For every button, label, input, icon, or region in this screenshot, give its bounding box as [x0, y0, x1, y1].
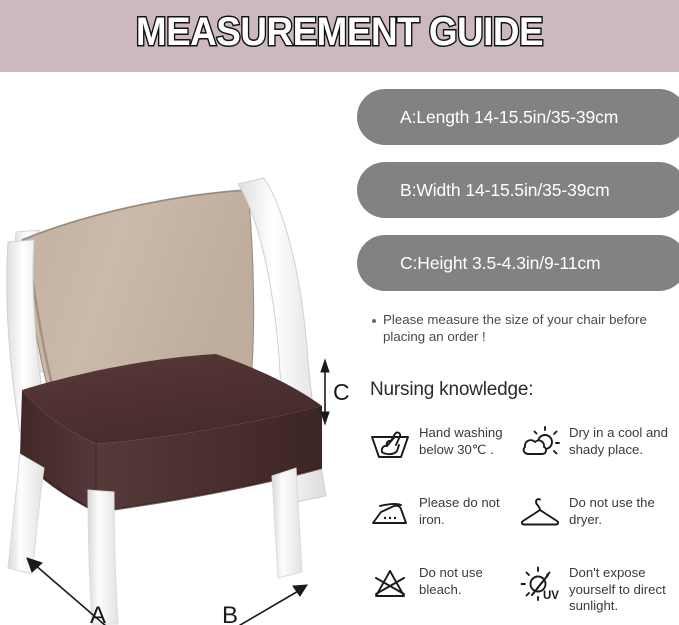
hand-washing-icon [368, 424, 412, 464]
spec-badge-length: A:Length 14-15.5in/35-39cm [357, 89, 679, 145]
spec-badge-width-label: B:Width 14-15.5in/35-39cm [357, 180, 610, 201]
care-instructions-grid: Hand washing below 30℃ . Dry in a cool [368, 422, 679, 625]
dimension-label-a: A [90, 602, 106, 625]
do-not-bleach-icon [368, 564, 412, 604]
page-title: MEASUREMENT GUIDE [27, 10, 652, 55]
care-item-dry-shady: Dry in a cool and shady place. [518, 422, 679, 492]
care-item-no-dryer: Do not use the dryer. [518, 492, 679, 562]
clothes-hanger-icon [518, 494, 562, 534]
care-item-hand-washing: Hand washing below 30℃ . [368, 422, 518, 492]
spec-badge-height-label: C:Height 3.5-4.3in/9-11cm [357, 253, 600, 274]
bullet-icon [372, 319, 376, 323]
care-item-do-not-bleach: Do not use bleach. [368, 562, 518, 625]
spec-badge-height: C:Height 3.5-4.3in/9-11cm [357, 235, 679, 291]
chair-left-leg [8, 454, 44, 574]
care-label-dry-shady: Dry in a cool and shady place. [569, 422, 679, 458]
care-label-no-sunlight: Don't expose yourself to direct sunlight… [569, 562, 679, 615]
dimension-arrow-c [321, 360, 329, 424]
do-not-iron-icon [368, 494, 412, 534]
measurement-guide-page: MEASUREMENT GUIDE [0, 0, 679, 625]
dimension-label-c: C [333, 379, 350, 405]
chair-illustration-panel: C A B [0, 72, 350, 625]
measure-note: Please measure the size of your chair be… [372, 311, 672, 345]
header-band: MEASUREMENT GUIDE [0, 0, 679, 72]
no-uv-sunlight-icon: UV [518, 564, 562, 604]
care-label-hand-washing: Hand washing below 30℃ . [419, 422, 518, 458]
nursing-knowledge-heading: Nursing knowledge: [370, 379, 533, 401]
care-label-do-not-bleach: Do not use bleach. [419, 562, 518, 598]
care-item-no-sunlight: UV Don't expose yourself to direct sunli… [518, 562, 679, 625]
dimension-label-b: B [222, 602, 238, 625]
sun-behind-cloud-icon [518, 424, 562, 464]
spec-badge-width: B:Width 14-15.5in/35-39cm [357, 162, 679, 218]
care-item-do-not-iron: Please do not iron. [368, 492, 518, 562]
dining-chair-illustration: C A B [0, 72, 350, 625]
svg-text:UV: UV [543, 590, 559, 602]
measure-note-text: Please measure the size of your chair be… [383, 311, 672, 345]
spec-badge-length-label: A:Length 14-15.5in/35-39cm [357, 107, 618, 128]
care-label-do-not-iron: Please do not iron. [419, 492, 518, 528]
care-label-no-dryer: Do not use the dryer. [569, 492, 679, 528]
right-column: A:Length 14-15.5in/35-39cm B:Width 14-15… [350, 72, 679, 625]
